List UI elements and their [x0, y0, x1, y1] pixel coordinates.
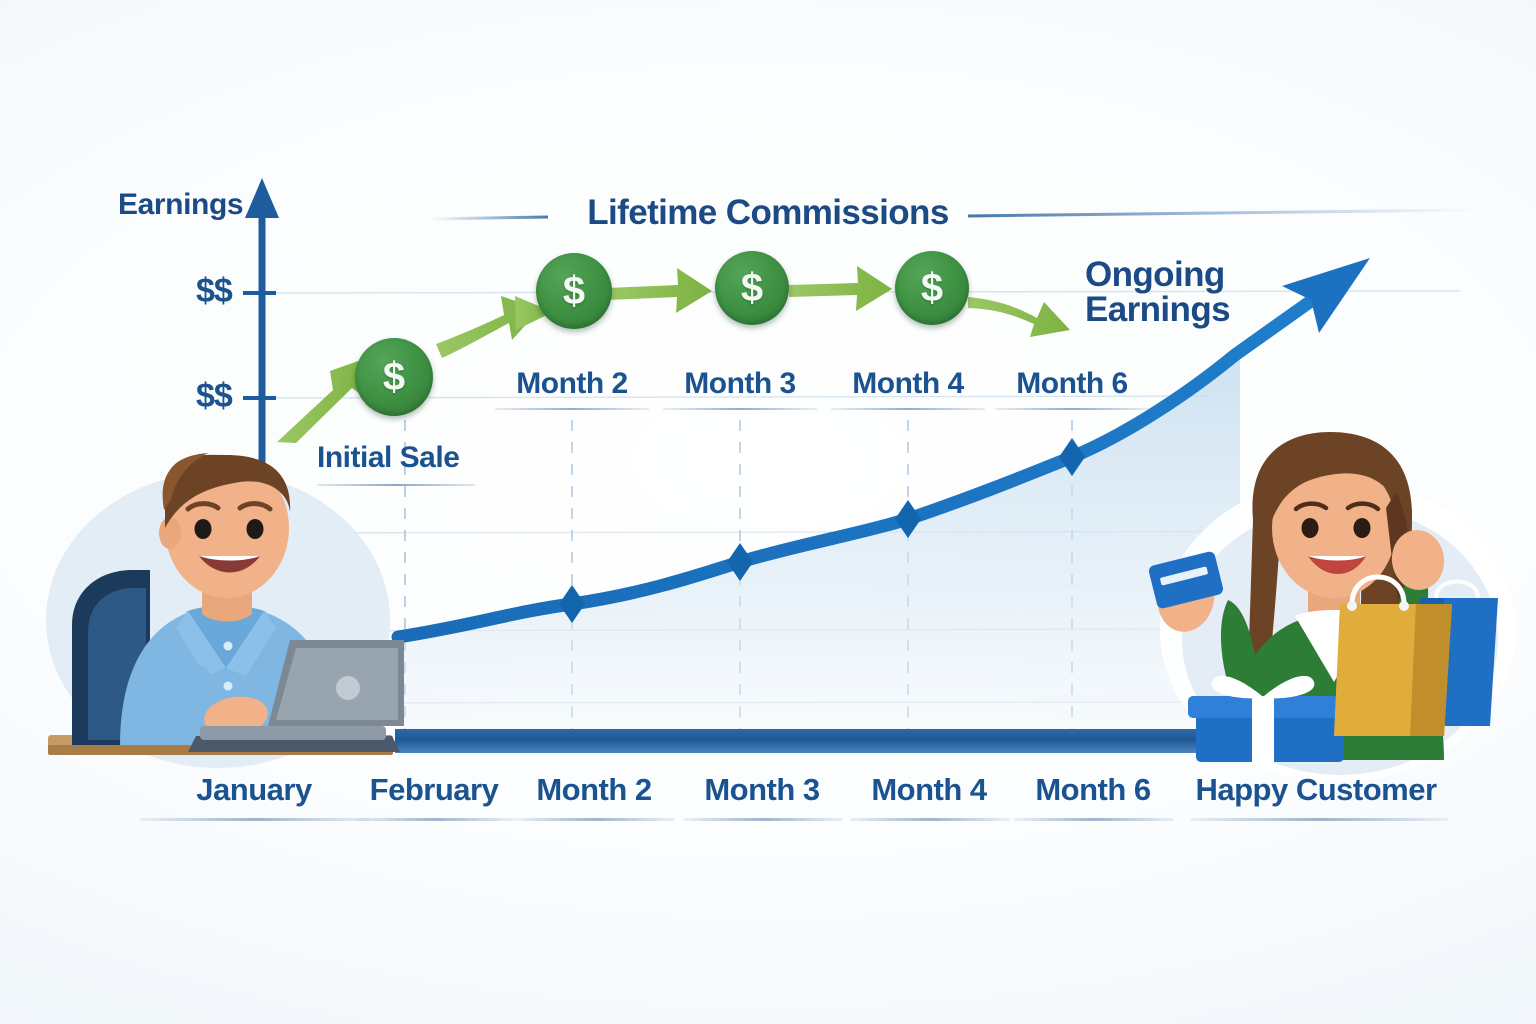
commission-coin-4: $	[895, 251, 969, 325]
infographic-canvas: $ $ $ $ Earnings $$ $$ Lifetime Commissi…	[0, 0, 1536, 1024]
column-rule-month-2	[495, 408, 649, 410]
y-axis-title: Earnings	[118, 188, 243, 222]
initial-sale-label: Initial Sale	[317, 441, 459, 475]
x-label-month-4: Month 4	[840, 772, 1018, 808]
column-label-month-3: Month 3	[660, 367, 820, 401]
column-label-month-2: Month 2	[492, 367, 652, 401]
commission-coin-1: $	[355, 338, 433, 416]
y-axis-tick-lower: $$	[196, 377, 232, 416]
x-rule-happy-customer	[1190, 818, 1448, 821]
column-rule-month-6	[995, 408, 1149, 410]
dollar-icon: $	[383, 357, 405, 397]
commission-arrow-2	[608, 268, 712, 313]
commission-arrow-4	[968, 297, 1070, 337]
commission-coin-2: $	[536, 253, 612, 329]
ongoing-earnings-line2: Earnings	[1085, 292, 1305, 327]
dollar-icon: $	[921, 268, 943, 308]
commission-coin-3: $	[715, 251, 789, 325]
x-label-month-6: Month 6	[1004, 772, 1182, 808]
x-rule-month-3	[683, 818, 843, 821]
ongoing-earnings-line1: Ongoing	[1085, 255, 1225, 294]
affiliate-marketer-illustration	[46, 453, 404, 768]
title-rule-left	[430, 217, 548, 219]
x-rule-month-2	[515, 818, 675, 821]
dollar-icon: $	[563, 271, 585, 311]
column-rule-month-4	[831, 408, 985, 410]
y-axis-tick-upper: $$	[196, 272, 232, 311]
x-label-happy-customer: Happy Customer	[1192, 772, 1440, 808]
ongoing-earnings-label: Ongoing Earnings	[1085, 257, 1305, 327]
dollar-icon: $	[741, 268, 763, 308]
x-rule-month-4	[850, 818, 1010, 821]
title-rule-right	[968, 210, 1475, 216]
column-rule-month-3	[663, 408, 817, 410]
x-label-february: February	[345, 772, 523, 808]
commission-arrow-3	[789, 266, 892, 311]
initial-sale-rule	[317, 484, 475, 486]
x-rule-january	[140, 818, 370, 821]
baseline-bar	[395, 729, 1235, 753]
x-label-month-2: Month 2	[505, 772, 683, 808]
x-rule-month-6	[1014, 818, 1174, 821]
chart-svg	[0, 0, 1536, 1024]
x-rule-february	[355, 818, 515, 821]
x-label-january: January	[165, 772, 343, 808]
x-label-month-3: Month 3	[673, 772, 851, 808]
column-label-month-4: Month 4	[828, 367, 988, 401]
column-label-month-6: Month 6	[992, 367, 1152, 401]
